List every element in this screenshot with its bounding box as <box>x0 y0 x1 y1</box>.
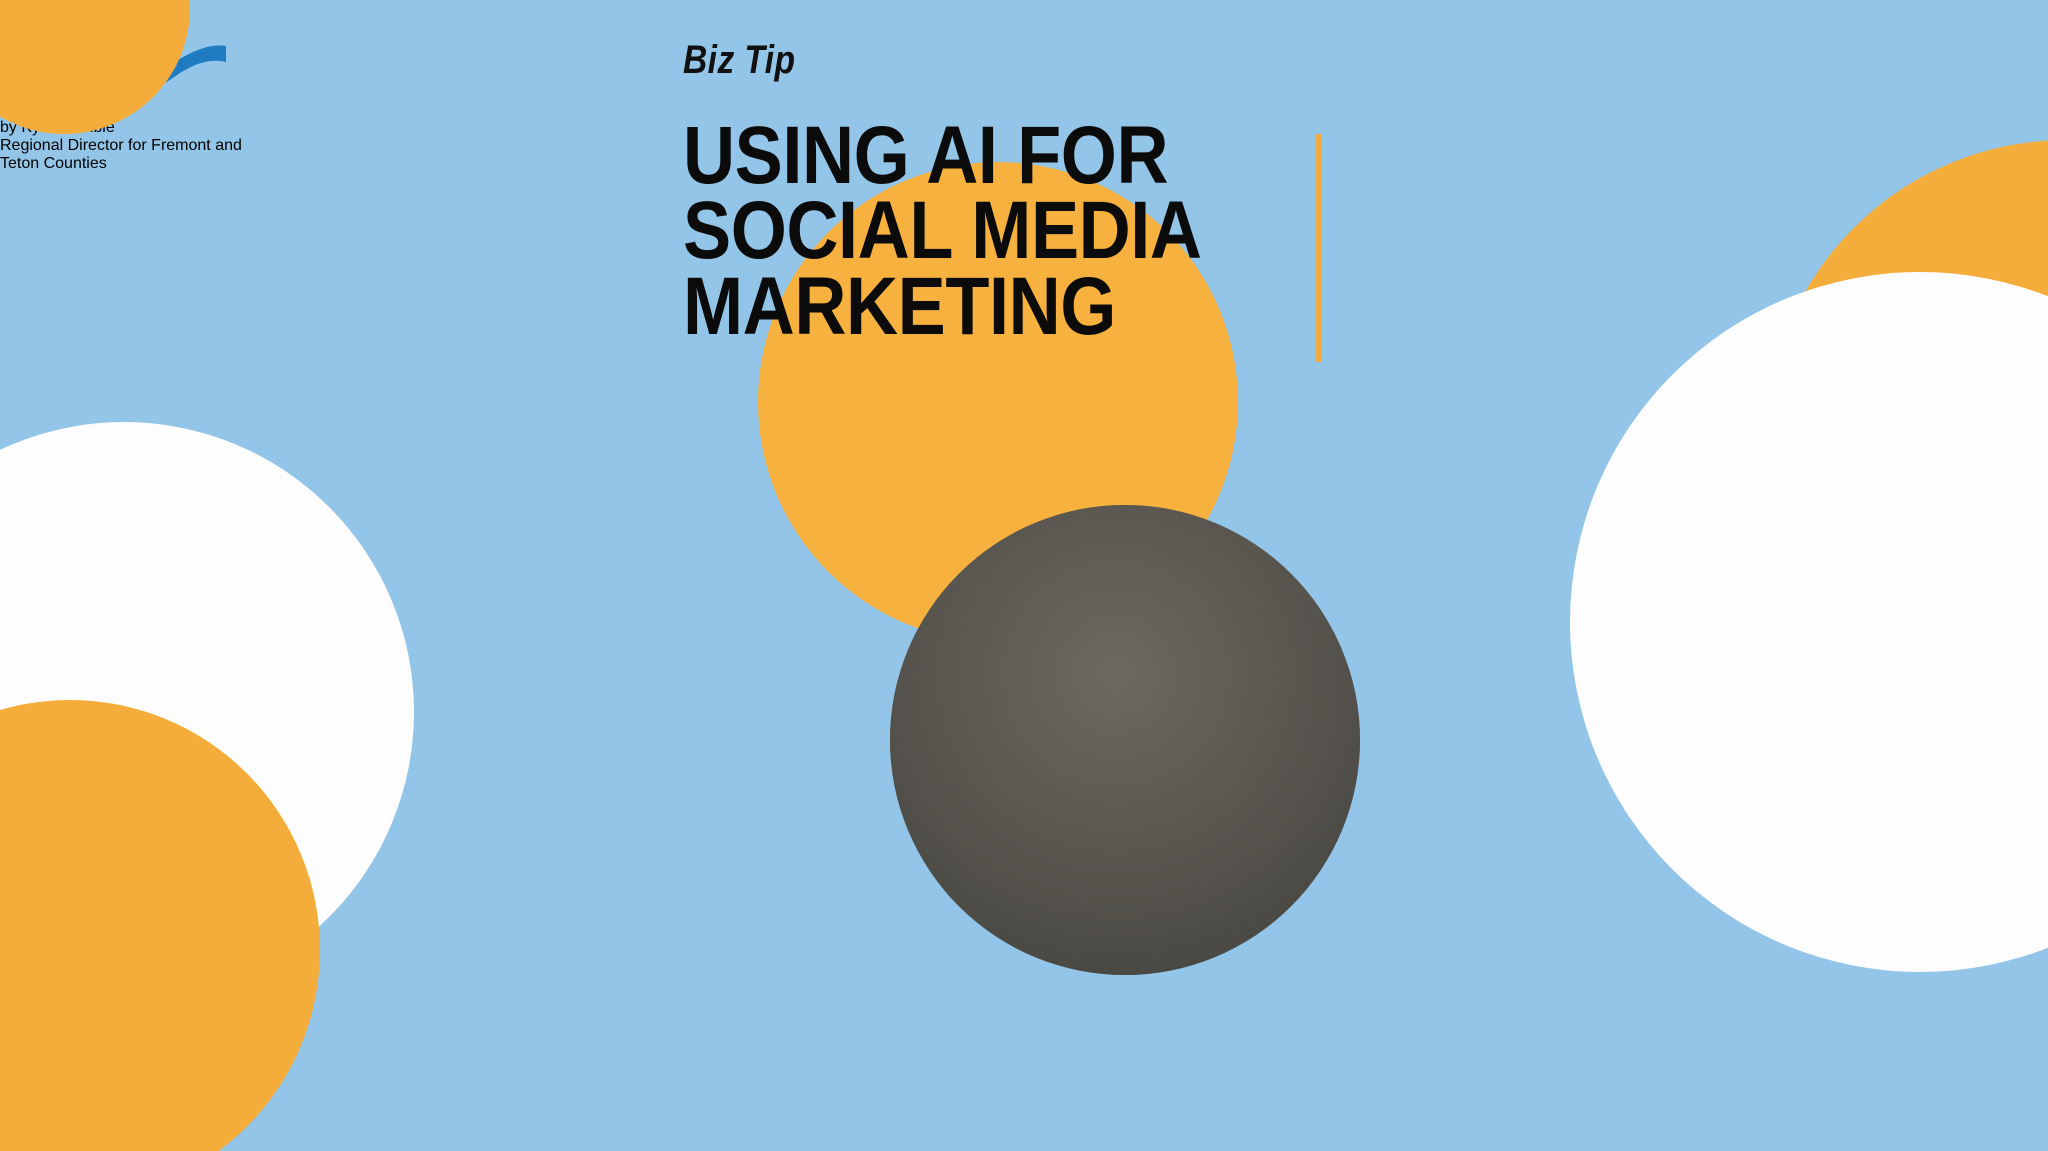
headline-line-2: SOCIAL MEDIA <box>683 193 1352 268</box>
eyebrow-label: Biz Tip <box>683 38 795 83</box>
logo-blue-wave-swoosh <box>0 36 2048 101</box>
headline-line-1: USING AI FOR <box>683 118 1352 193</box>
vertical-divider-rule <box>1316 134 1321 362</box>
logo-sbdc-text: SBDC <box>0 18 2048 36</box>
speaker-portrait-avatar: Wyoming SBDC <box>890 505 1360 975</box>
decor-circle-white-right <box>1570 272 2048 972</box>
page-title: USING AI FOR SOCIAL MEDIA MARKETING <box>683 118 1443 344</box>
headline-line-3: MARKETING <box>683 269 1352 344</box>
logo-wyoming-text: Wyoming <box>0 0 2048 18</box>
wyoming-sbdc-network-logo: Wyoming SBDC Network <box>0 0 2048 119</box>
biz-tip-slide: Biz Tip USING AI FOR SOCIAL MEDIA MARKET… <box>0 0 2048 1151</box>
